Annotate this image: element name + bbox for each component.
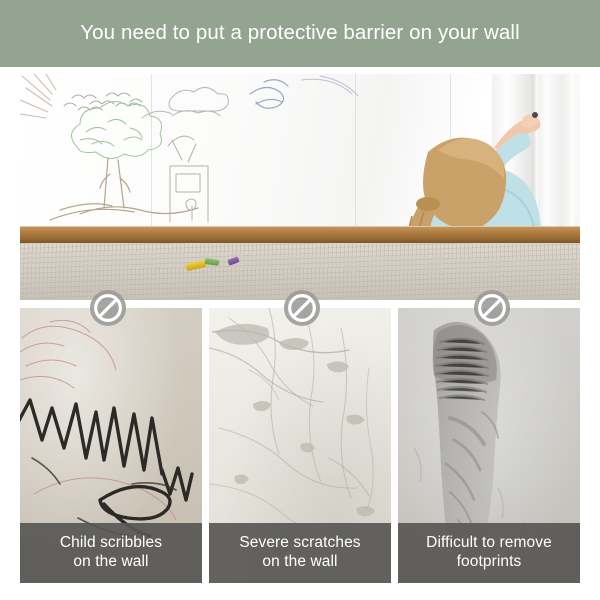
caption-line-2: on the wall [262,553,337,570]
header-banner: You need to put a protective barrier on … [0,0,600,67]
panel-difficult-footprints: Difficult to remove footprints [398,308,580,583]
panel-caption: Difficult to remove footprints [398,523,580,583]
panel-caption: Severe scratches on the wall [209,523,391,583]
wall-seam [151,74,152,226]
prohibition-icon [473,289,511,327]
wall-seam [355,74,356,226]
prohibition-icon [89,289,127,327]
hero-image [20,74,580,300]
problem-panels: Child scribbles on the wall [20,308,580,583]
product-banner-page: You need to put a protective barrier on … [0,0,600,600]
caption-line-2: on the wall [73,553,148,570]
panel-caption: Child scribbles on the wall [20,523,202,583]
panel-severe-scratches: Severe scratches on the wall [209,308,391,583]
caption-line-1: Difficult to remove [426,534,552,551]
caption-line-1: Child scribbles [60,534,162,551]
prohibition-icon [283,289,321,327]
caption-line-2: footprints [457,553,522,570]
page-title: You need to put a protective barrier on … [80,22,519,45]
caption-line-1: Severe scratches [239,534,360,551]
baseboard-trim [20,226,580,243]
panel-child-scribbles: Child scribbles on the wall [20,308,202,583]
